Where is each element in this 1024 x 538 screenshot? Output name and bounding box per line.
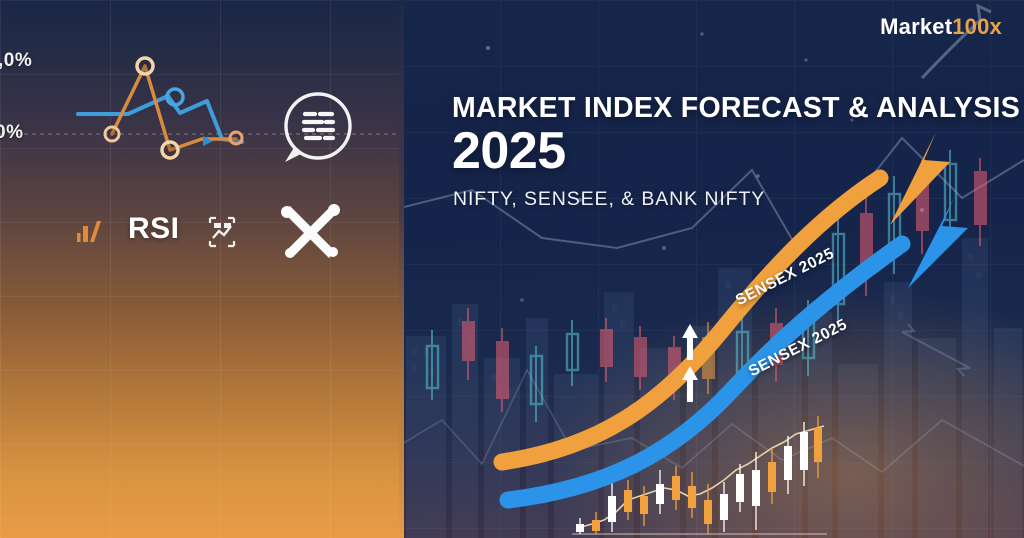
forecast-arrows bbox=[402, 0, 1024, 538]
data-point-marker bbox=[137, 58, 153, 74]
poster-canvas: ,0% 0% bbox=[0, 0, 1024, 538]
panel-divider bbox=[399, 0, 404, 538]
brand-logo: Market100x bbox=[880, 14, 1002, 40]
brand-name-primary: Market bbox=[880, 14, 952, 39]
chart-frame-icon bbox=[210, 218, 234, 246]
bar-chart-icon bbox=[77, 221, 101, 242]
series-orange bbox=[112, 66, 236, 150]
speech-bubble-waves-icon bbox=[277, 88, 353, 172]
year-heading: 2025 bbox=[452, 125, 566, 177]
data-point-marker bbox=[105, 127, 119, 141]
brand-name-accent: 100x bbox=[952, 14, 1002, 39]
data-point-marker bbox=[162, 142, 178, 158]
page-subtitle: NIFTY, SENSEE, & BANK NIFTY bbox=[453, 188, 765, 211]
left-icon-row bbox=[0, 190, 402, 280]
page-title: MARKET INDEX FORECAST & ANALYSIS bbox=[452, 92, 1020, 125]
axis-label: 0% bbox=[0, 122, 23, 144]
blue-arrowhead bbox=[908, 198, 968, 288]
axis-label: ,0% bbox=[0, 50, 32, 72]
blue-forecast-curve bbox=[508, 244, 902, 500]
left-panel: ,0% 0% bbox=[0, 0, 402, 538]
orange-arrowhead bbox=[890, 132, 950, 225]
rsi-label: RSI bbox=[128, 212, 180, 246]
data-point-marker bbox=[230, 132, 242, 144]
crossed-tools-icon bbox=[281, 204, 340, 258]
